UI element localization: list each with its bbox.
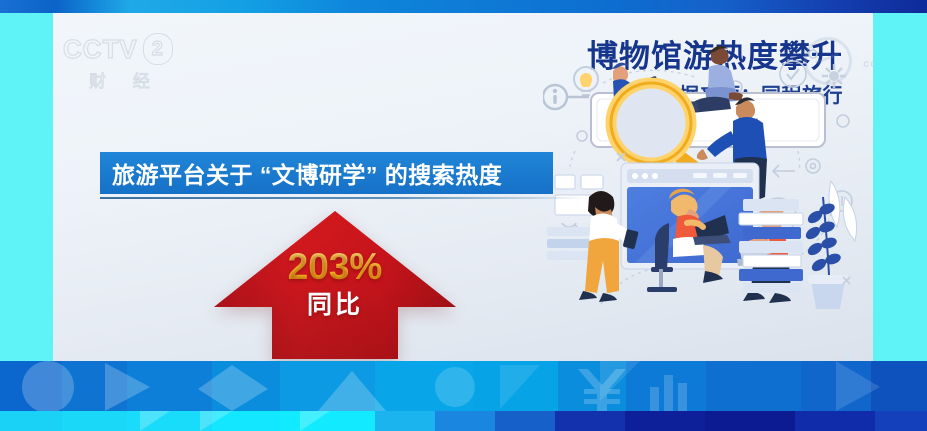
cctv-logo-text: CCTV bbox=[63, 34, 138, 64]
illustration-svg bbox=[543, 31, 873, 361]
cctv-channel-name: 财 经 bbox=[89, 67, 223, 92]
info-icon bbox=[543, 85, 567, 109]
circle-motif bbox=[435, 367, 475, 407]
bottom-band-svg bbox=[0, 361, 927, 431]
up-arrow-icon bbox=[210, 209, 460, 361]
main-stage: CCTV 2 财 经 博物馆游热度攀升 数据来源：同程旅行 央视网 cctv.c… bbox=[53, 13, 873, 361]
left-cyan-rail bbox=[0, 13, 53, 361]
bottom-decorative-band bbox=[0, 361, 927, 431]
right-cyan-rail bbox=[873, 13, 927, 361]
cctv-logo-watermark: CCTV 2 财 经 bbox=[63, 33, 223, 93]
cctv-channel-number: 2 bbox=[143, 33, 173, 65]
stat-arrow-group: 203% 同比 bbox=[210, 209, 460, 361]
lightbulb-icon bbox=[574, 67, 598, 95]
caption-underline-rule bbox=[100, 197, 590, 199]
potted-plant bbox=[804, 181, 857, 309]
top-gradient-strip bbox=[0, 0, 927, 13]
search-illustration bbox=[543, 31, 873, 361]
book-stack-right bbox=[739, 199, 803, 293]
broadcast-graphic-screen: CCTV 2 财 经 博物馆游热度攀升 数据来源：同程旅行 央视网 cctv.c… bbox=[0, 0, 927, 431]
caption-text: 旅游平台关于 “文博研学” 的搜索热度 bbox=[112, 156, 502, 190]
caption-banner: 旅游平台关于 “文博研学” 的搜索热度 bbox=[100, 152, 553, 194]
cctv-logo-wordmark: CCTV 2 bbox=[63, 33, 223, 65]
